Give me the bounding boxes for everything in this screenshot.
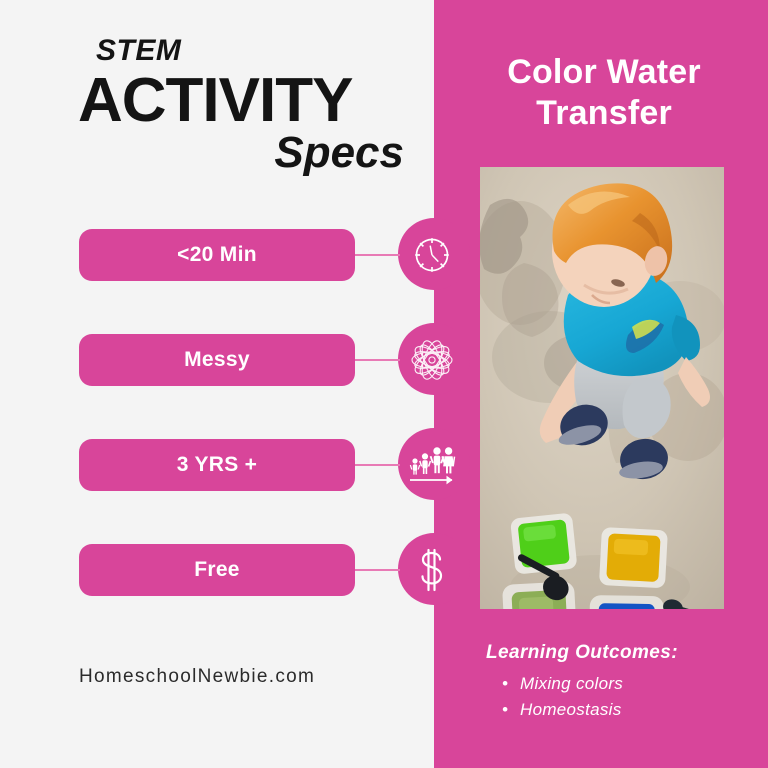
connector-line-mess-level: [355, 359, 400, 361]
page-title: STEM ACTIVITY Specs: [78, 36, 408, 175]
title-specs: Specs: [78, 131, 408, 175]
spec-pill-age[interactable]: 3 YRS +: [79, 439, 355, 491]
activity-title: Color Water Transfer: [458, 52, 750, 135]
atom-icon: [408, 336, 456, 384]
spec-row-cost: Free: [0, 544, 480, 596]
activity-photo: [480, 167, 724, 609]
spec-pill-mess-level[interactable]: Messy: [79, 334, 355, 386]
learning-outcomes: Learning Outcomes: Mixing colors Homeost…: [486, 642, 756, 724]
spec-row-mess-level: Messy: [0, 334, 480, 386]
list-item: Homeostasis: [502, 697, 756, 723]
connector-line-duration: [355, 254, 400, 256]
spec-pill-cost[interactable]: Free: [79, 544, 355, 596]
title-activity: ACTIVITY: [78, 68, 408, 135]
connector-line-cost: [355, 569, 400, 571]
dollar-sign-icon: [408, 546, 456, 594]
clock-icon: [408, 231, 456, 279]
list-item: Mixing colors: [502, 671, 756, 697]
learning-outcomes-title: Learning Outcomes:: [486, 642, 756, 664]
spec-pill-duration[interactable]: <20 Min: [79, 229, 355, 281]
spec-row-duration: <20 Min: [0, 229, 480, 281]
activity-title-line1: Color Water: [458, 52, 750, 93]
connector-line-age: [355, 464, 400, 466]
infographic-canvas: STEM ACTIVITY Specs <20 Min Messy: [0, 0, 768, 768]
spec-row-age: 3 YRS +: [0, 439, 480, 491]
learning-outcomes-list: Mixing colors Homeostasis: [502, 671, 756, 724]
activity-title-line2: Transfer: [458, 93, 750, 134]
site-url[interactable]: HomeschoolNewbie.com: [79, 666, 315, 688]
age-progression-icon: [408, 441, 456, 489]
title-stem: STEM: [96, 36, 408, 66]
